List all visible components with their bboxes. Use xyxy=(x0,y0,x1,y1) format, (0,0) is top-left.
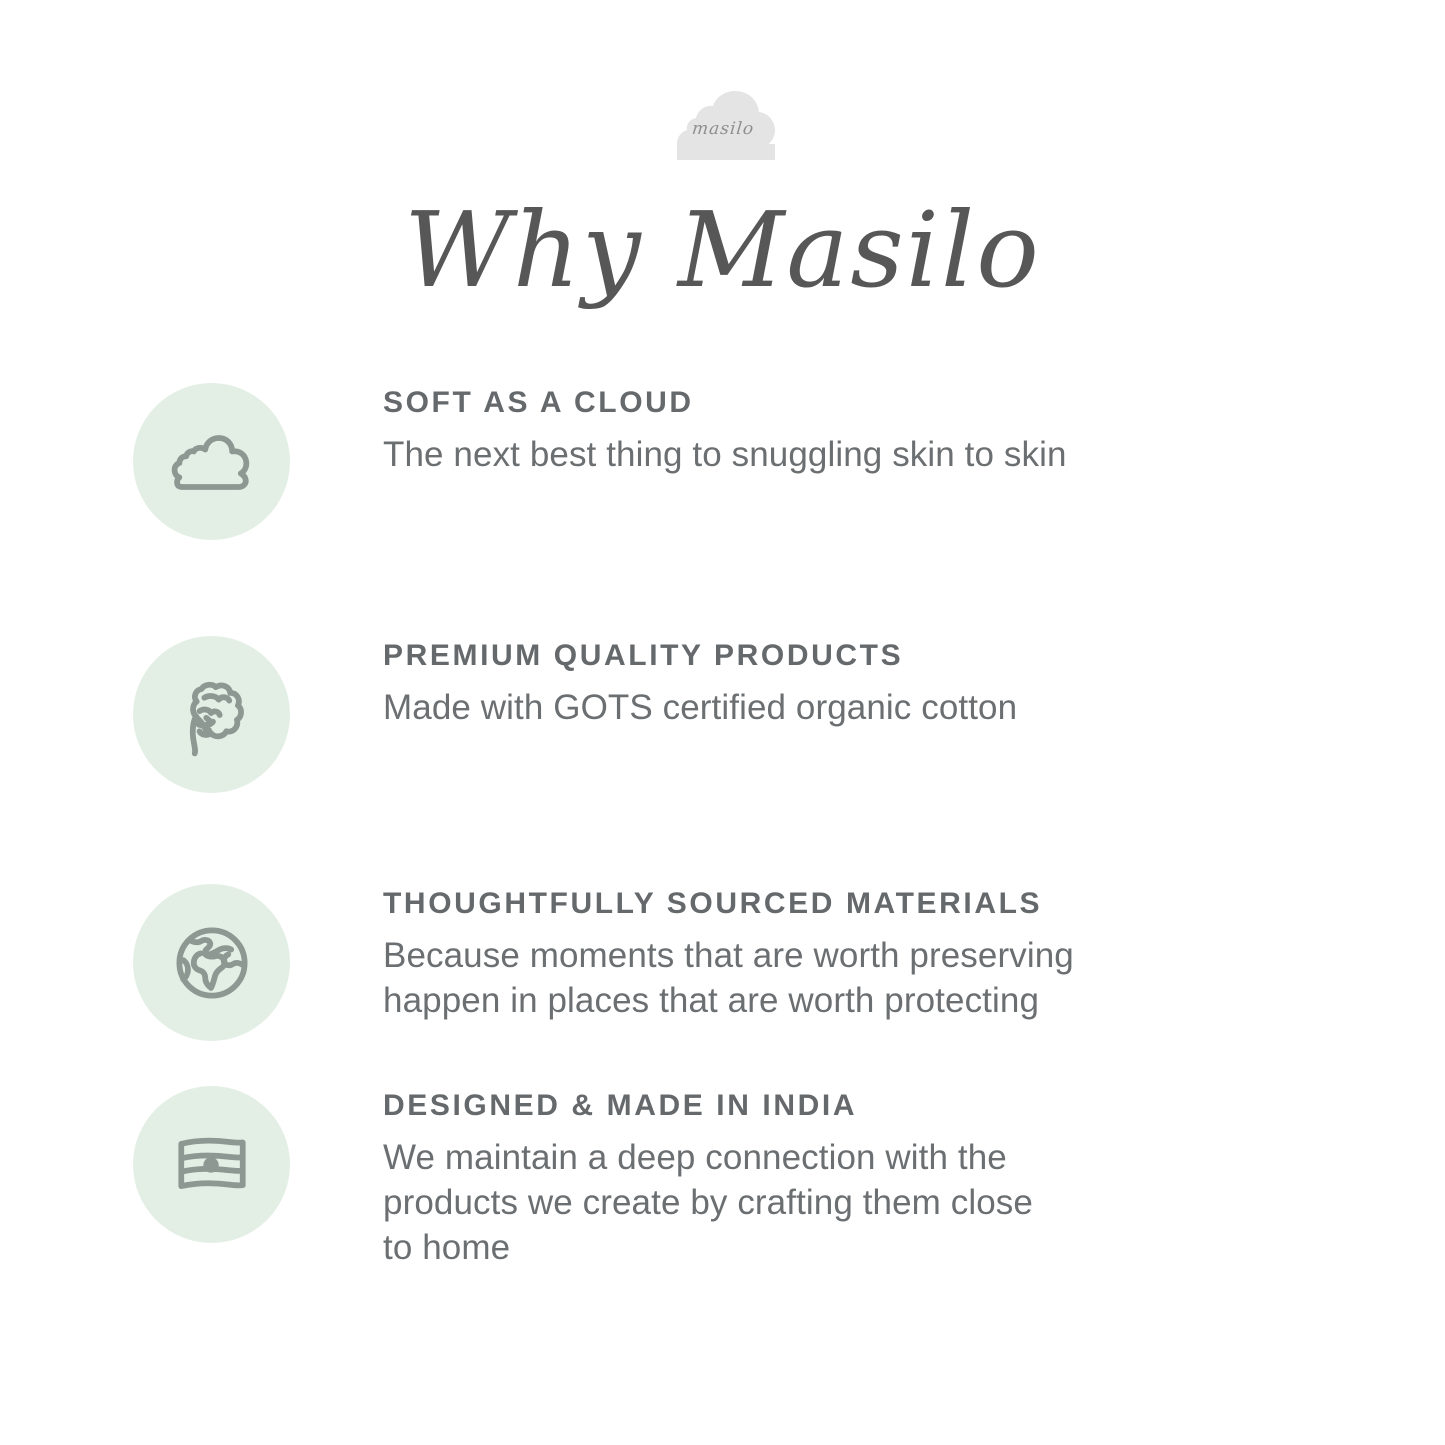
brand-wordmark: masilo xyxy=(654,121,792,138)
brand-logo: masilo xyxy=(0,88,1445,164)
brand-logo-inner: masilo xyxy=(655,88,791,164)
page-title: Why Masilo xyxy=(0,196,1445,305)
list-item: THOUGHTFULLY SOURCED MATERIALS Because m… xyxy=(0,861,1445,1041)
feature-list: SOFT AS A CLOUD The next best thing to s… xyxy=(0,360,1445,1270)
feature-description: Because moments that are worth preservin… xyxy=(383,934,1343,1024)
feature-description: The next best thing to snuggling skin to… xyxy=(383,433,1343,478)
desc-line: happen in places that are worth protecti… xyxy=(383,979,1343,1024)
feature-icon-badge xyxy=(133,884,290,1041)
list-item: SOFT AS A CLOUD The next best thing to s… xyxy=(0,360,1445,540)
desc-line: products we create by crafting them clos… xyxy=(383,1181,1343,1226)
feature-heading: PREMIUM QUALITY PRODUCTS xyxy=(383,639,1343,672)
list-item: PREMIUM QUALITY PRODUCTS Made with GOTS … xyxy=(0,613,1445,793)
desc-line: Made with GOTS certified organic cotton xyxy=(383,686,1343,731)
cloud-icon xyxy=(164,414,260,510)
feature-description: Made with GOTS certified organic cotton xyxy=(383,686,1343,731)
feature-description: We maintain a deep connection with the p… xyxy=(383,1136,1343,1270)
feature-icon-badge xyxy=(133,1086,290,1243)
list-item: DESIGNED & MADE IN INDIA We maintain a d… xyxy=(0,1063,1445,1270)
feature-text: PREMIUM QUALITY PRODUCTS Made with GOTS … xyxy=(290,613,1343,731)
feature-icon-badge xyxy=(133,383,290,540)
feature-icon-badge xyxy=(133,636,290,793)
desc-line: to home xyxy=(383,1226,1343,1271)
desc-line: The next best thing to snuggling skin to… xyxy=(383,433,1343,478)
globe-icon xyxy=(164,915,260,1011)
feature-text: SOFT AS A CLOUD The next best thing to s… xyxy=(290,360,1343,478)
feature-heading: DESIGNED & MADE IN INDIA xyxy=(383,1089,1343,1122)
feature-text: DESIGNED & MADE IN INDIA We maintain a d… xyxy=(290,1063,1343,1270)
feature-text: THOUGHTFULLY SOURCED MATERIALS Because m… xyxy=(290,861,1343,1024)
feature-heading: SOFT AS A CLOUD xyxy=(383,386,1343,419)
desc-line: Because moments that are worth preservin… xyxy=(383,934,1343,979)
india-flag-icon xyxy=(164,1117,260,1213)
cotton-boll-icon xyxy=(164,667,260,763)
feature-heading: THOUGHTFULLY SOURCED MATERIALS xyxy=(383,887,1343,920)
why-masilo-page: masilo Why Masilo SOFT AS A CLOUD The ne… xyxy=(0,0,1445,1445)
desc-line: We maintain a deep connection with the xyxy=(383,1136,1343,1181)
